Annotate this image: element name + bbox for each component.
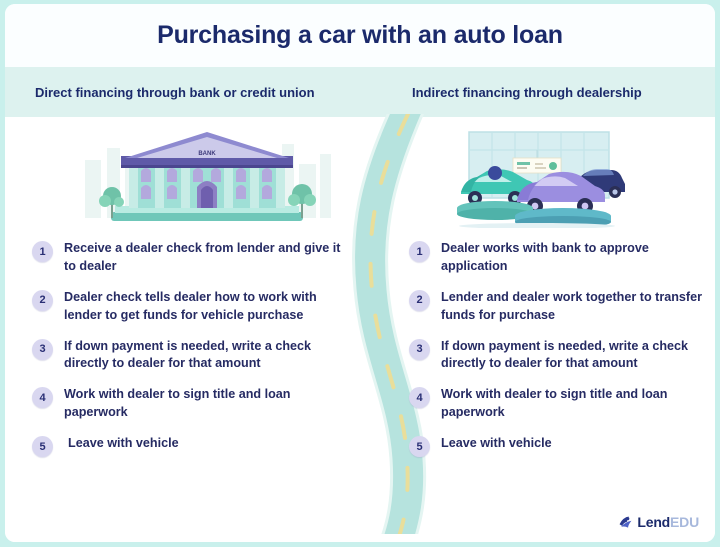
- list-item[interactable]: 2 Dealer check tells dealer how to work …: [32, 289, 342, 325]
- step-text: Leave with vehicle: [68, 435, 179, 453]
- list-item[interactable]: 5 Leave with vehicle: [409, 435, 709, 469]
- list-item[interactable]: 4 Work with dealer to sign title and loa…: [409, 386, 709, 422]
- step-number-badge: 3: [32, 339, 53, 360]
- infographic-card: Purchasing a car with an auto loan Direc…: [5, 4, 715, 542]
- list-item[interactable]: 2 Lender and dealer work together to tra…: [409, 289, 709, 325]
- step-number-badge: 2: [409, 290, 430, 311]
- step-text: Dealer works with bank to approve applic…: [441, 240, 709, 276]
- step-number-badge: 4: [32, 387, 53, 408]
- step-text: Leave with vehicle: [441, 435, 552, 453]
- step-text: If down payment is needed, write a check…: [64, 338, 342, 374]
- step-number-badge: 4: [409, 387, 430, 408]
- list-item[interactable]: 3 If down payment is needed, write a che…: [32, 338, 342, 374]
- step-number-badge: 5: [409, 436, 430, 457]
- list-item[interactable]: 1 Receive a dealer check from lender and…: [32, 240, 342, 276]
- lendedu-logo[interactable]: Lend EDU: [617, 513, 699, 531]
- column-heading-direct: Direct financing through bank or credit …: [35, 85, 315, 100]
- lendedu-mark-icon: [617, 514, 634, 531]
- page-title: Purchasing a car with an auto loan: [5, 21, 715, 50]
- step-list-direct: 1 Receive a dealer check from lender and…: [32, 240, 342, 482]
- car-dealership-showroom-illustration: [447, 126, 627, 228]
- infographic-frame: Purchasing a car with an auto loan Direc…: [0, 0, 720, 547]
- logo-text-edu: EDU: [670, 514, 699, 530]
- step-text: Work with dealer to sign title and loan …: [441, 386, 709, 422]
- step-text: If down payment is needed, write a check…: [441, 338, 709, 374]
- step-number-badge: 5: [32, 436, 53, 457]
- step-number-badge: 3: [409, 339, 430, 360]
- list-item[interactable]: 4 Work with dealer to sign title and loa…: [32, 386, 342, 422]
- step-number-badge: 2: [32, 290, 53, 311]
- bank-building-illustration: BANK: [67, 130, 347, 230]
- step-text: Lender and dealer work together to trans…: [441, 289, 709, 325]
- bank-sign-label: BANK: [198, 151, 216, 157]
- step-number-badge: 1: [409, 241, 430, 262]
- step-list-indirect: 1 Dealer works with bank to approve appl…: [409, 240, 709, 482]
- list-item[interactable]: 1 Dealer works with bank to approve appl…: [409, 240, 709, 276]
- column-heading-indirect: Indirect financing through dealership: [412, 85, 642, 100]
- list-item[interactable]: 3 If down payment is needed, write a che…: [409, 338, 709, 374]
- step-number-badge: 1: [32, 241, 53, 262]
- logo-text-lend: Lend: [637, 514, 670, 530]
- step-text: Dealer check tells dealer how to work wi…: [64, 289, 342, 325]
- list-item[interactable]: 5 Leave with vehicle: [32, 435, 342, 469]
- step-text: Receive a dealer check from lender and g…: [64, 240, 342, 276]
- step-text: Work with dealer to sign title and loan …: [64, 386, 342, 422]
